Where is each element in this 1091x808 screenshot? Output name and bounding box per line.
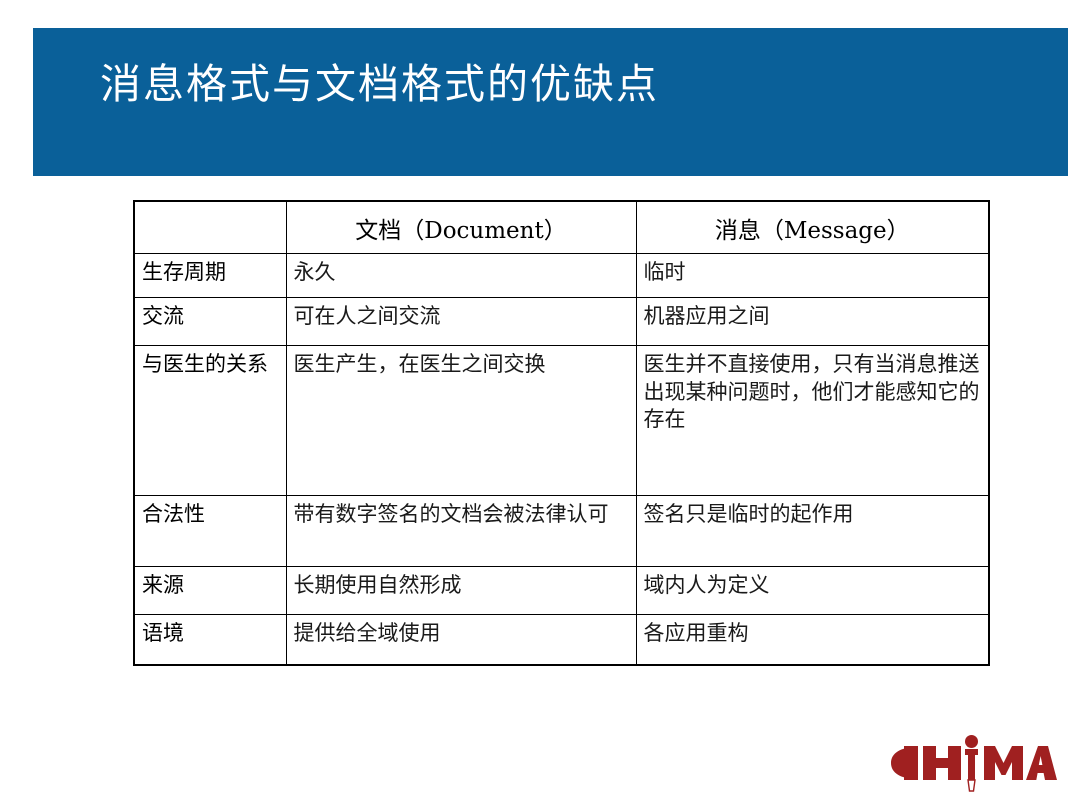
cell-document-legality: 带有数字签名的文档会被法律认可 [286, 496, 636, 567]
cell-message-communication: 机器应用之间 [636, 298, 989, 346]
table-row: 交流 可在人之间交流 机器应用之间 [134, 298, 989, 346]
comparison-table: 文档（Document） 消息（Message） 生存周期 永久 临时 交流 可… [133, 200, 990, 666]
cell-message-legality: 签名只是临时的起作用 [636, 496, 989, 567]
cell-document-context: 提供给全域使用 [286, 615, 636, 665]
row-label-communication: 交流 [134, 298, 286, 346]
cell-document-origin: 长期使用自然形成 [286, 567, 636, 615]
table-header-row: 文档（Document） 消息（Message） [134, 201, 989, 254]
row-label-context: 语境 [134, 615, 286, 665]
row-label-legality: 合法性 [134, 496, 286, 567]
table-row: 生存周期 永久 临时 [134, 254, 989, 298]
row-label-lifecycle: 生存周期 [134, 254, 286, 298]
cell-document-doctor-relation: 医生产生，在医生之间交换 [286, 346, 636, 496]
cell-document-communication: 可在人之间交流 [286, 298, 636, 346]
table-row: 合法性 带有数字签名的文档会被法律认可 签名只是临时的起作用 [134, 496, 989, 567]
header-cell-document: 文档（Document） [286, 201, 636, 254]
header-cell-blank [134, 201, 286, 254]
table-row: 来源 长期使用自然形成 域内人为定义 [134, 567, 989, 615]
row-label-doctor-relation: 与医生的关系 [134, 346, 286, 496]
table-row: 语境 提供给全域使用 各应用重构 [134, 615, 989, 665]
cell-document-lifecycle: 永久 [286, 254, 636, 298]
cell-message-doctor-relation: 医生并不直接使用，只有当消息推送出现某种问题时，他们才能感知它的存在 [636, 346, 989, 496]
page-title: 消息格式与文档格式的优缺点 [100, 60, 1000, 109]
chima-logo [885, 733, 1057, 795]
row-label-origin: 来源 [134, 567, 286, 615]
header-cell-message: 消息（Message） [636, 201, 989, 254]
cell-message-lifecycle: 临时 [636, 254, 989, 298]
table-row: 与医生的关系 医生产生，在医生之间交换 医生并不直接使用，只有当消息推送出现某种… [134, 346, 989, 496]
cell-message-origin: 域内人为定义 [636, 567, 989, 615]
chima-logo-icon [885, 733, 1057, 795]
cell-message-context: 各应用重构 [636, 615, 989, 665]
